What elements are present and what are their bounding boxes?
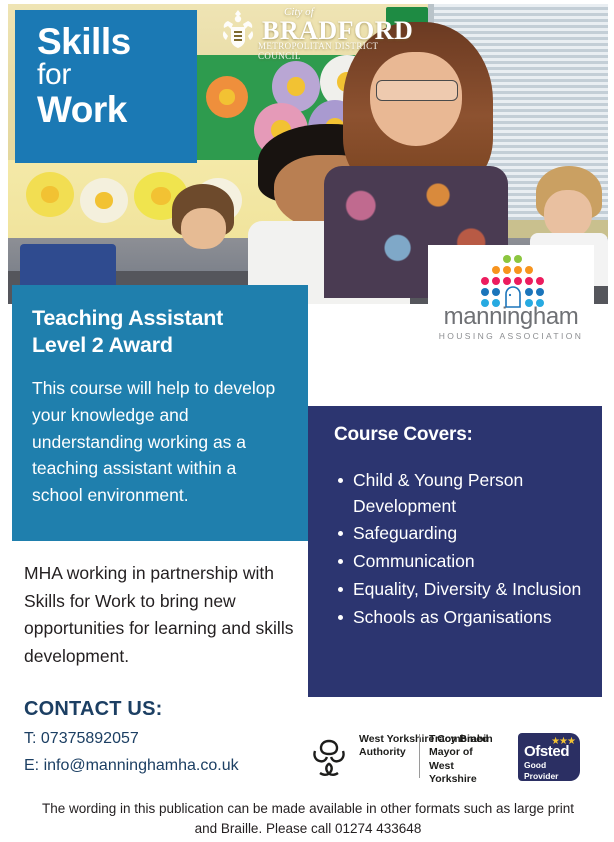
ofsted-rating: Good Provider xyxy=(524,760,580,781)
west-yorkshire-combined-authority-logo: West Yorkshire Combined Authority Tracy … xyxy=(307,731,497,783)
manningham-housing-logo: manningham HOUSING ASSOCIATION xyxy=(428,245,594,364)
list-item: Safeguarding xyxy=(353,521,588,547)
photo-glasses xyxy=(376,80,459,101)
contact-email[interactable]: E: info@manninghamha.co.uk xyxy=(24,757,314,775)
logo-line-work: Work xyxy=(37,91,197,128)
list-item: Schools as Organisations xyxy=(353,605,588,631)
photo-flower xyxy=(206,76,248,118)
skills-for-work-logo: Skills for Work xyxy=(15,10,197,163)
course-title-line1: Teaching Assistant xyxy=(32,305,290,332)
list-item: Child & Young Person Development xyxy=(353,468,588,519)
contact-section: CONTACT US: T: 07375892057 E: info@manni… xyxy=(24,698,314,775)
coat-of-arms-icon xyxy=(218,9,258,51)
wyca-mayor: Tracy Brabin Mayor of West Yorkshire xyxy=(429,733,497,786)
manningham-dot-house-icon xyxy=(428,255,594,301)
ofsted-name: Ofsted xyxy=(524,743,569,760)
logo-line-for: for xyxy=(37,60,197,91)
bradford-council-logo: City of BRADFORD METROPOLITAN DISTRICT C… xyxy=(218,6,418,54)
photo-flower xyxy=(26,172,74,217)
logo-line-skills: Skills xyxy=(37,24,197,60)
course-covers-panel: Course Covers: Child & Young Person Deve… xyxy=(308,406,602,697)
poster-root: Skills for Work City of BRADFORD METROPO… xyxy=(0,0,614,842)
course-description: This course will help to develop your kn… xyxy=(32,375,290,508)
ofsted-badge: ★★★ Ofsted Good Provider xyxy=(518,733,580,781)
yorkshire-rose-icon xyxy=(307,735,351,779)
photo-child-left xyxy=(164,184,242,292)
list-item: Communication xyxy=(353,549,588,575)
wyca-divider xyxy=(419,734,420,778)
manningham-subtitle: HOUSING ASSOCIATION xyxy=(428,331,594,341)
photo-flower xyxy=(80,178,128,223)
course-covers-heading: Course Covers: xyxy=(334,424,588,446)
course-panel: Teaching Assistant Level 2 Award This co… xyxy=(12,285,308,541)
course-covers-list: Child & Young Person Development Safegua… xyxy=(334,468,588,630)
council-subtitle: METROPOLITAN DISTRICT COUNCIL xyxy=(258,41,418,61)
course-title-line2: Level 2 Award xyxy=(32,332,290,359)
partnership-paragraph: MHA working in partnership with Skills f… xyxy=(24,560,306,671)
list-item: Equality, Diversity & Inclusion xyxy=(353,577,588,603)
contact-heading: CONTACT US: xyxy=(24,698,314,721)
contact-phone[interactable]: T: 07375892057 xyxy=(24,730,314,748)
accessibility-disclaimer: The wording in this publication can be m… xyxy=(40,799,576,838)
manningham-name: manningham xyxy=(428,303,594,331)
